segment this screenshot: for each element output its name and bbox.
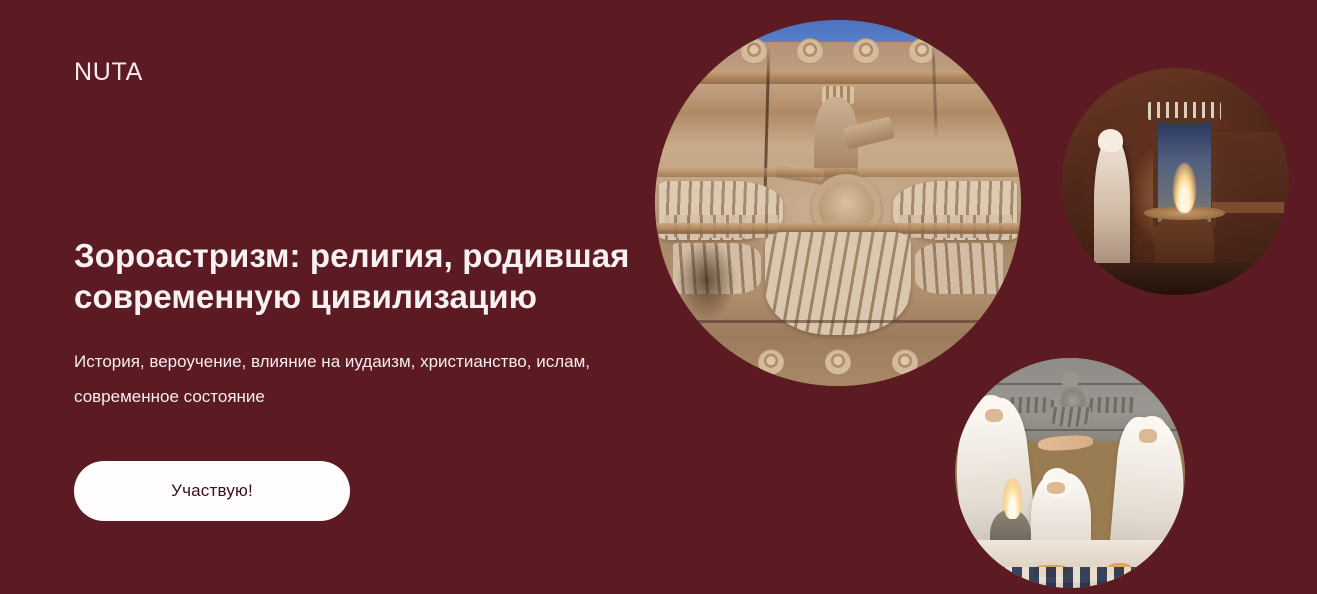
ceremony-table-cloth xyxy=(978,567,1171,588)
rosette-icon xyxy=(758,349,784,375)
priest-face xyxy=(1047,482,1065,494)
relief-seam xyxy=(655,320,1021,323)
rosette-icon xyxy=(892,349,918,375)
participate-button[interactable]: Участвую! xyxy=(74,461,350,521)
relief-shadow xyxy=(677,240,736,321)
landing-hero-page: NUTA Зороастризм: религия, родившая совр… xyxy=(0,0,1317,594)
faravahar-lower-wing-right xyxy=(915,243,1003,294)
rosette-icon xyxy=(965,38,991,64)
rosette-icon xyxy=(741,38,767,64)
relief-band xyxy=(655,71,1021,83)
ceremony-flame xyxy=(1003,478,1021,519)
page-title: Зороастризм: религия, родившая современн… xyxy=(74,235,634,317)
rosette-icon xyxy=(690,349,716,375)
hero-subtitle: История, вероучение, влияние на иудаизм,… xyxy=(74,344,614,414)
fire-temple-interior-image xyxy=(1062,68,1289,295)
carving-tail xyxy=(1049,407,1090,427)
rosette-row-top xyxy=(670,36,1007,65)
sacred-fire-flame xyxy=(1173,163,1196,213)
carving-figure-head xyxy=(1062,371,1077,387)
faravahar-wall-carving xyxy=(1006,370,1135,430)
temple-priest-head xyxy=(1098,129,1123,152)
rosette-icon xyxy=(853,38,879,64)
carving-wing-right xyxy=(1085,397,1134,413)
temple-priest-robe xyxy=(1094,136,1130,277)
priest-face xyxy=(985,409,1003,423)
temple-floor xyxy=(1062,263,1289,295)
site-logo[interactable]: NUTA xyxy=(74,57,143,87)
rosette-icon xyxy=(825,349,851,375)
rosette-icon xyxy=(797,38,823,64)
priest-face xyxy=(1139,429,1157,443)
priests-fire-ceremony-image xyxy=(955,358,1185,588)
faravahar-stone-relief-image xyxy=(655,20,1021,386)
rosette-icon xyxy=(685,38,711,64)
